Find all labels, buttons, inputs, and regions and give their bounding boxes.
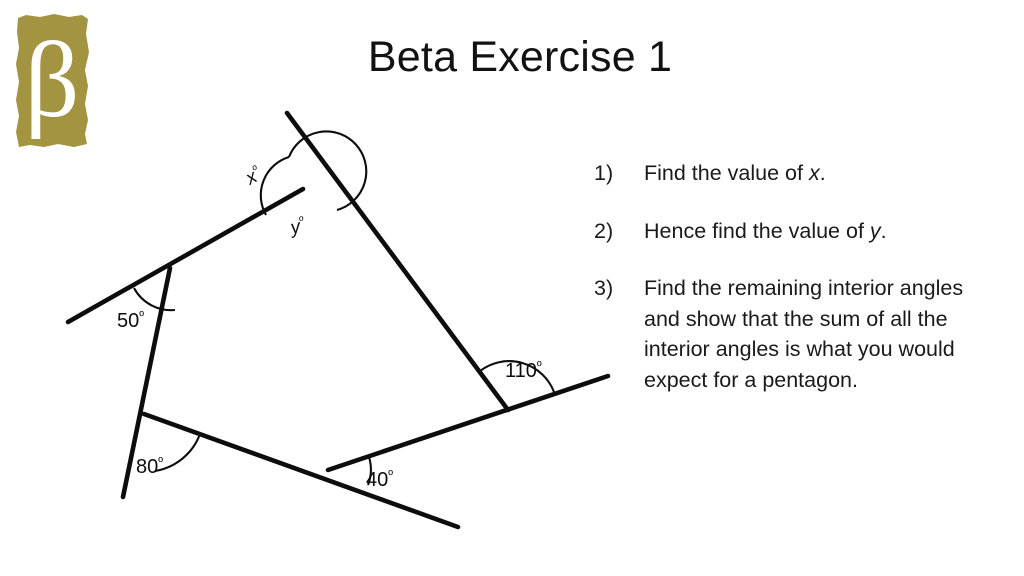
question-number: 3) [594, 273, 644, 304]
angle-label-40: 40º [366, 467, 393, 492]
angle-label-80: 80º [136, 454, 163, 479]
question-text-after: . [820, 161, 826, 185]
question-item-3: 3) Find the remaining interior angles an… [594, 273, 986, 395]
question-number: 1) [594, 158, 644, 189]
question-text: Find the remaining interior angles and s… [644, 273, 986, 395]
side-right-top-extended [287, 113, 508, 410]
question-text: Find the value of x. [644, 158, 986, 189]
question-list: 1) Find the value of x. 2) Hence find th… [594, 158, 986, 422]
question-variable: y [870, 219, 881, 243]
angle-label-y: yº [286, 213, 307, 239]
side-bottomleft-bottom-extended [144, 414, 458, 527]
question-item-2: 2) Hence find the value of y. [594, 216, 986, 247]
side-bottom-right-extended [328, 376, 608, 470]
angle-label-50: 50º [117, 308, 144, 333]
side-top-left-extended [68, 189, 303, 322]
question-text-before: Find the remaining interior angles and s… [644, 276, 963, 392]
question-variable: x [809, 161, 820, 185]
question-item-1: 1) Find the value of x. [594, 158, 986, 189]
angle-label-110: 110º [505, 358, 542, 383]
question-text-after: . [881, 219, 887, 243]
question-text-before: Hence find the value of [644, 219, 870, 243]
question-number: 2) [594, 216, 644, 247]
question-text-before: Find the value of [644, 161, 809, 185]
question-text: Hence find the value of y. [644, 216, 986, 247]
slide-canvas: β Beta Exercise 1 xº yº [0, 0, 1024, 576]
